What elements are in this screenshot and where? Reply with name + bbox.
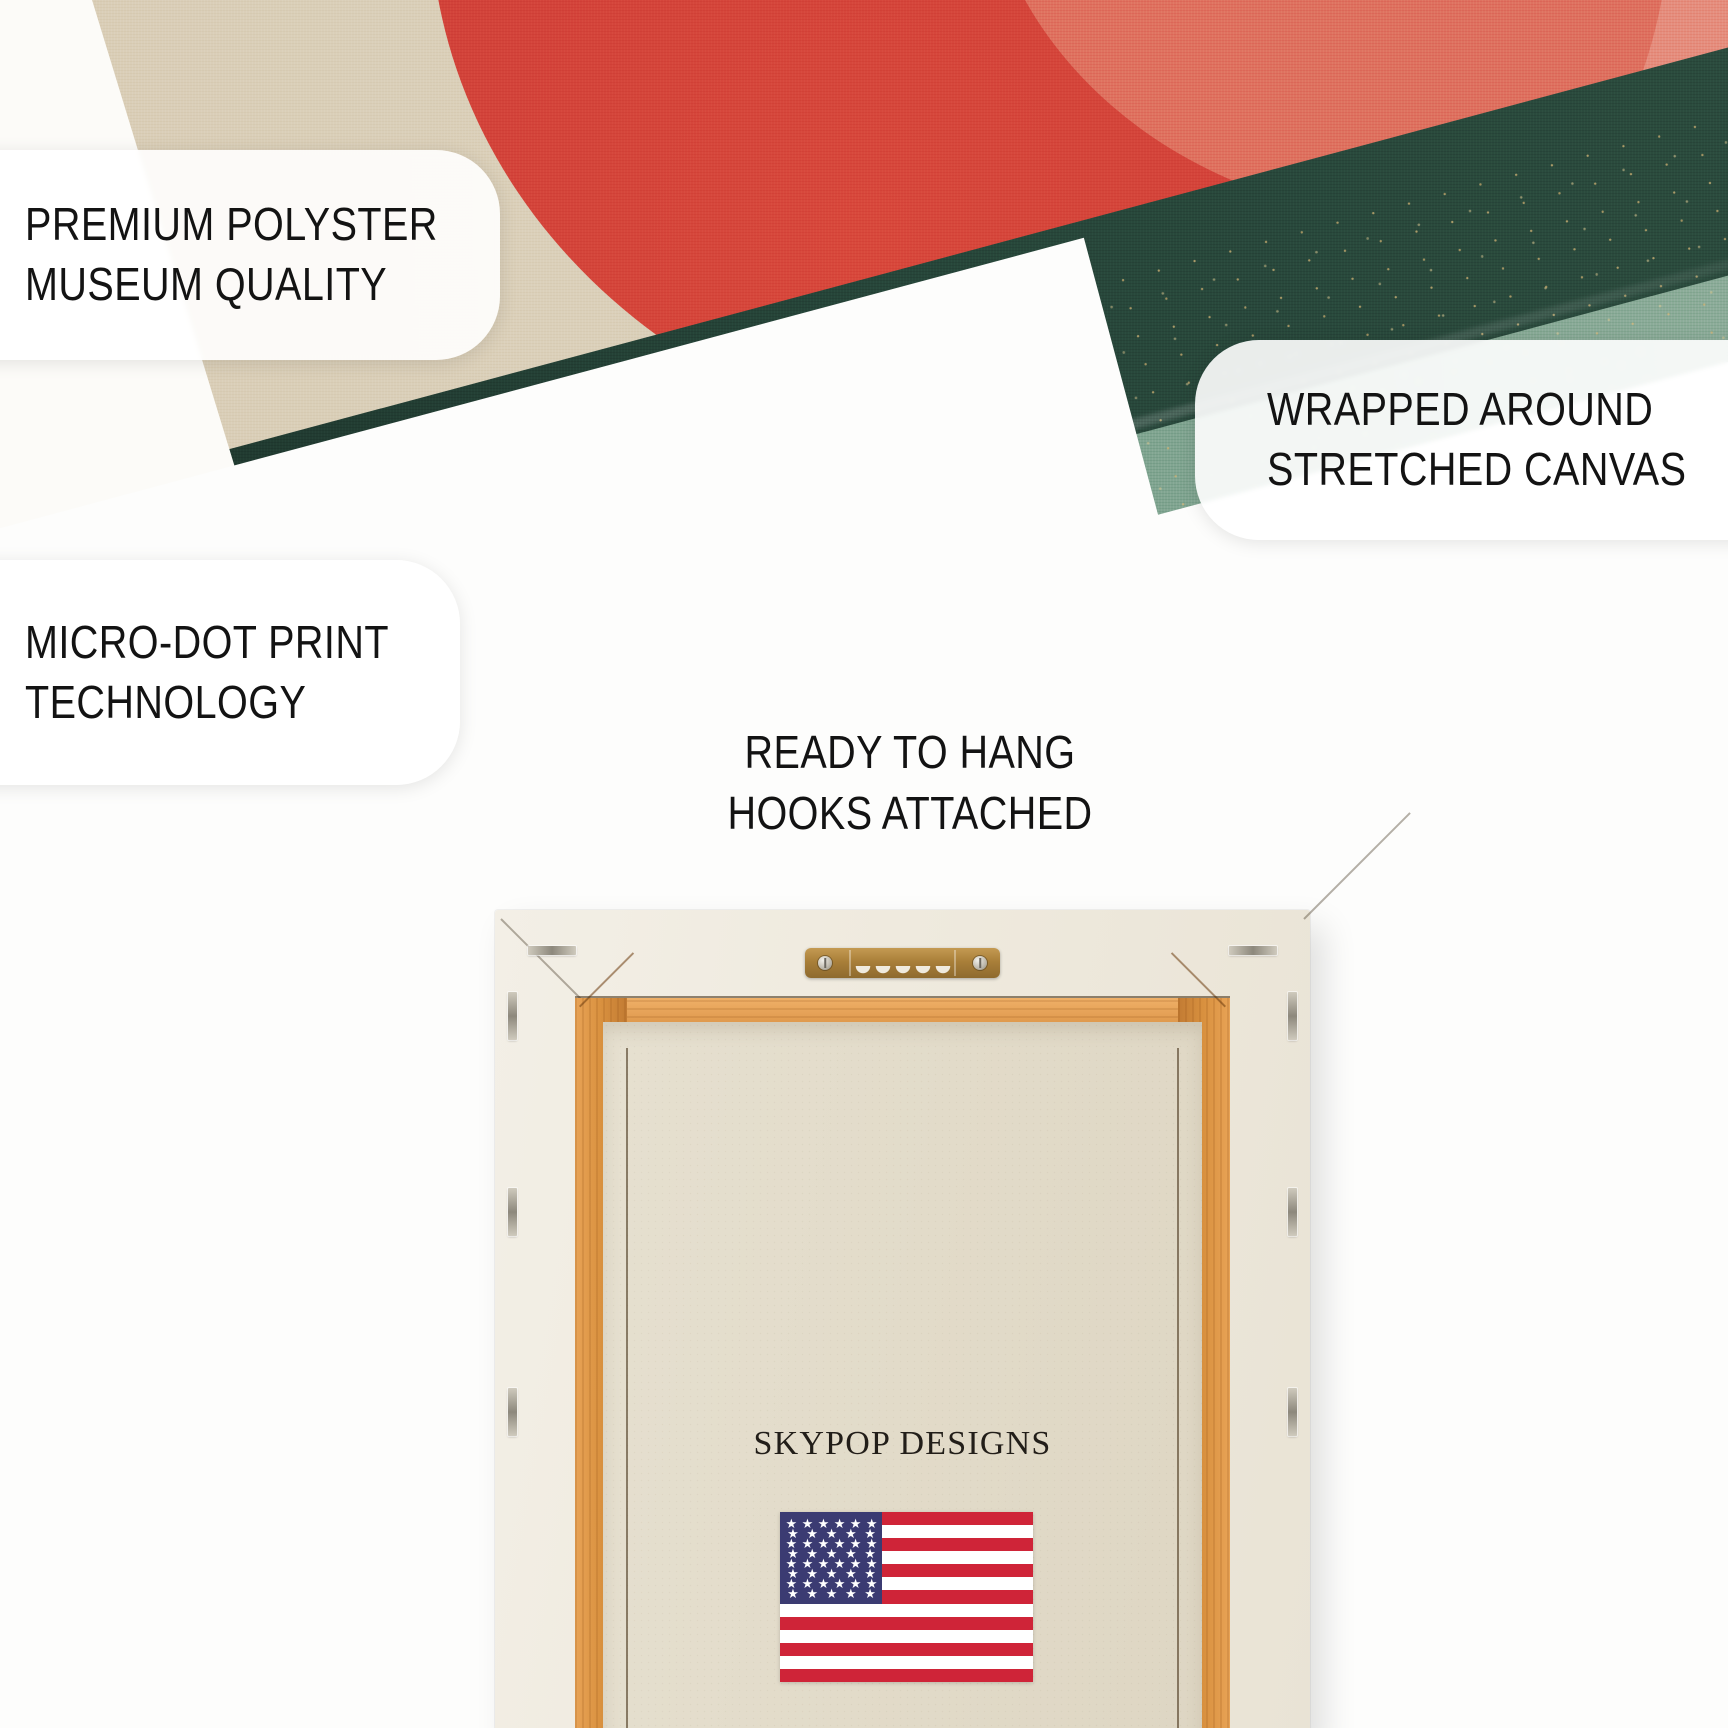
flag-canton: ★★★ ★★★ ★★★ ★★ ★★★ ★★★ ★★★ ★★ [780,1512,882,1604]
staple [508,1188,517,1236]
callout-line: TECHNOLOGY [25,673,399,733]
flag-stripe [780,1669,1033,1682]
hanger-screw-left [818,956,832,970]
seam-left [626,1048,628,1728]
staple [1229,946,1277,955]
flag-stripe [780,1643,1033,1656]
callout-premium-polyster: PREMIUM POLYSTER MUSEUM QUALITY [0,150,500,360]
callout-line: MUSEUM QUALITY [25,255,434,315]
ready-line: READY TO HANG [695,722,1125,783]
flag-stars: ★★★ ★★★ ★★★ ★★ ★★★ ★★★ ★★★ ★★ [780,1512,882,1604]
callout-micro-dot-print: MICRO-DOT PRINT TECHNOLOGY [0,560,460,785]
seam-top [575,996,1230,998]
callout-ready-to-hang: READY TO HANG HOOKS ATTACHED [660,722,1160,843]
staple [508,992,517,1040]
callout-wrapped-around: WRAPPED AROUND STRETCHED CANVAS [1195,340,1728,540]
callout-line: MICRO-DOT PRINT [25,613,399,673]
us-flag: ★★★ ★★★ ★★★ ★★ ★★★ ★★★ ★★★ ★★ [780,1512,1033,1682]
brand-name: SKYPOP DESIGNS [495,1425,1310,1463]
ready-line: HOOKS ATTACHED [695,783,1125,844]
staple [1288,1188,1297,1236]
seam-right [1177,1048,1179,1728]
staple [528,946,576,955]
hanger-screw-right [973,956,987,970]
callout-line: PREMIUM POLYSTER [25,195,434,255]
staple [1288,992,1297,1040]
product-infographic: PREMIUM POLYSTER MUSEUM QUALITY WRAPPED … [0,0,1728,1728]
callout-line: WRAPPED AROUND [1267,380,1728,440]
hanger-ridge [849,950,851,976]
hanger-ridge [954,950,956,976]
sawtooth-hanger [805,948,1000,978]
canvas-back-photo: SKYPOP DESIGNS ★★★ ★★★ ★★★ [495,910,1310,1728]
hanger-sawteeth [853,966,952,979]
flag-stripe [780,1617,1033,1630]
callout-line: STRETCHED CANVAS [1267,440,1728,500]
canvas-fold-line-right [1303,812,1410,919]
